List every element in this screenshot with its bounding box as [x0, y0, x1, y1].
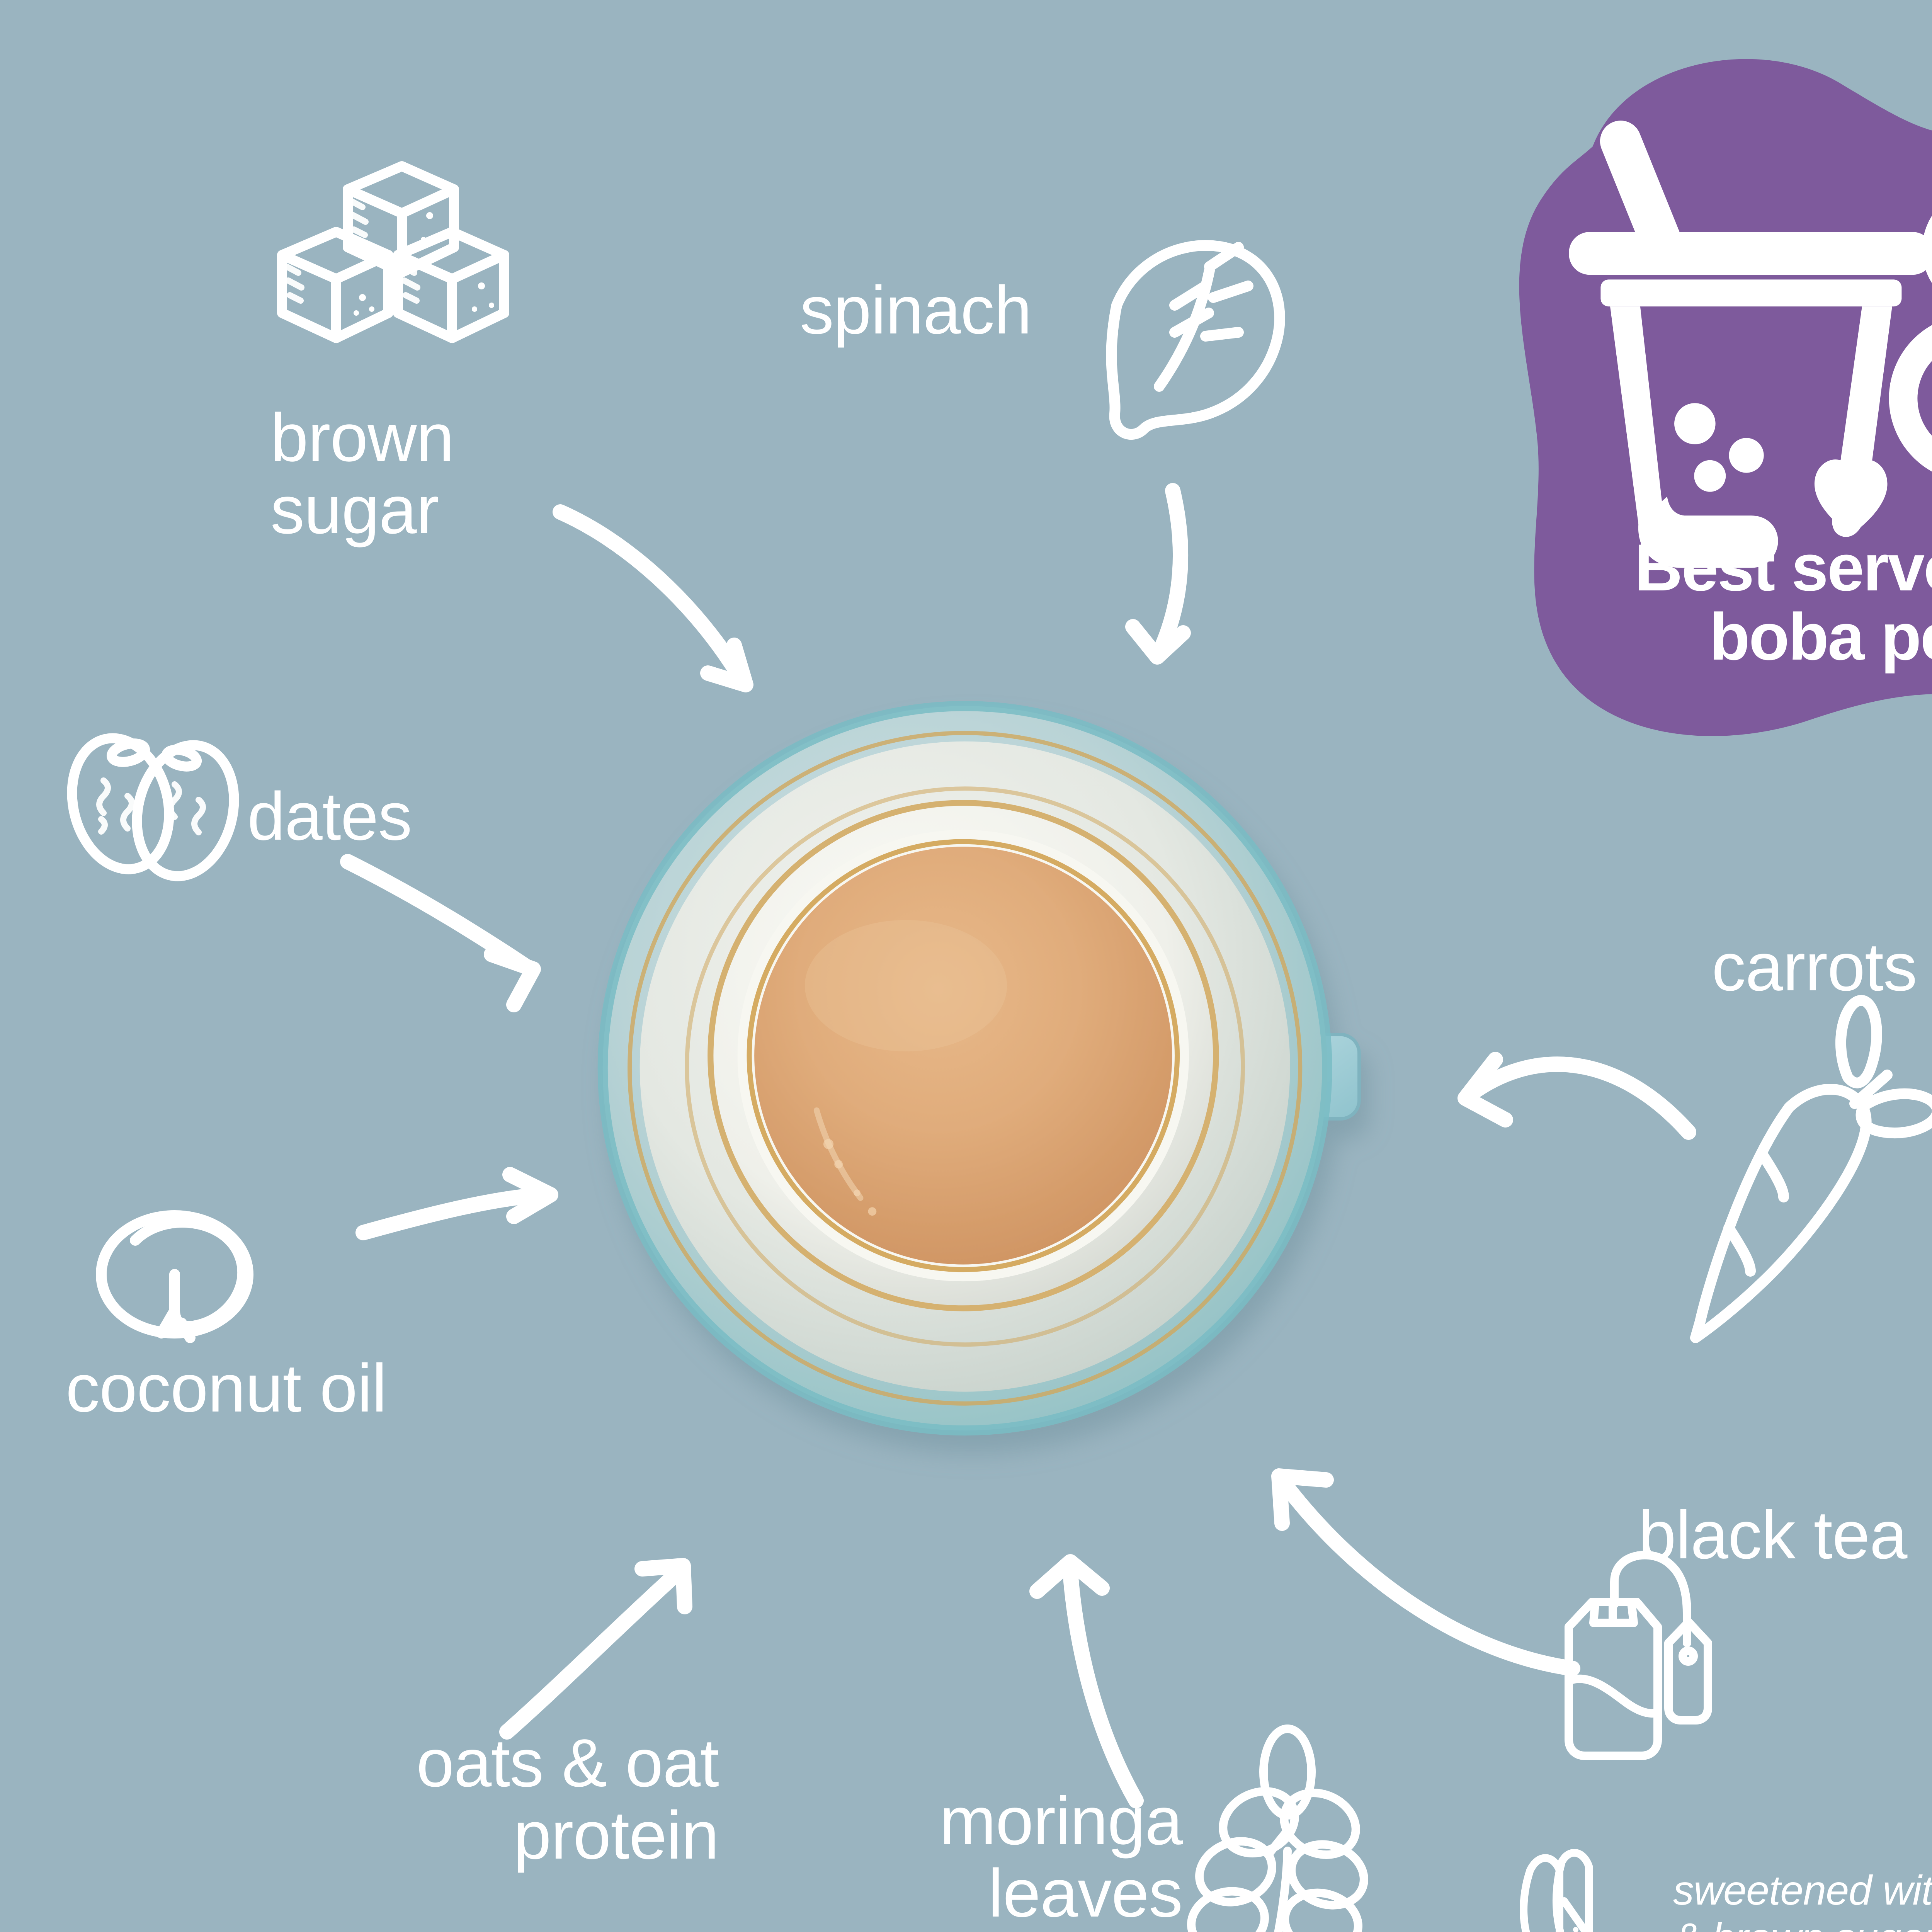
carrot-icon: [1696, 1000, 1932, 1338]
sugar-cubes-icon: [282, 166, 504, 338]
label-brown-sugar: brown sugar: [270, 402, 454, 546]
arrow-brown-sugar: [560, 512, 746, 685]
coconut-icon: [101, 1216, 248, 1338]
label-oats: oats & oat protein: [294, 1727, 719, 1871]
tea-bag-icon: [1569, 1555, 1708, 1756]
label-dates: dates: [247, 781, 412, 853]
badge-caption-line1: Best served with: [1522, 533, 1932, 602]
infographic-canvas: Best served with boba pearls brown sugar…: [0, 0, 1932, 1932]
arrow-spinach: [1133, 491, 1183, 657]
label-carrots: carrots: [1712, 931, 1917, 1003]
stevia-note-line2: & brown sugar: [1673, 1914, 1932, 1932]
badge-caption: Best served with boba pearls: [1522, 533, 1932, 672]
arrow-oats: [507, 1566, 685, 1732]
moringa-sprig-icon: [1185, 1729, 1372, 1932]
stevia-leaf-icon: [1524, 1853, 1607, 1932]
label-black-tea: black tea: [1638, 1499, 1907, 1571]
stevia-note-line1: sweetened with Stevia: [1673, 1866, 1932, 1914]
cup-photo: [576, 672, 1418, 1515]
arrow-moringa: [1037, 1562, 1136, 1801]
badge-caption-line2: boba pearls: [1522, 602, 1932, 672]
dates-icon: [59, 728, 247, 887]
arrow-dates: [348, 862, 533, 1005]
spinach-leaf-icon: [1111, 245, 1279, 434]
label-moringa: moringa leaves: [846, 1785, 1182, 1929]
label-spinach: spinach: [800, 274, 1032, 347]
arrow-carrots: [1465, 1060, 1689, 1132]
label-coconut-oil: coconut oil: [66, 1352, 386, 1425]
cup-and-saucer: [603, 706, 1359, 1430]
arrow-coconut-oil: [363, 1175, 551, 1233]
stevia-note: sweetened with Stevia & brown sugar: [1673, 1866, 1932, 1932]
